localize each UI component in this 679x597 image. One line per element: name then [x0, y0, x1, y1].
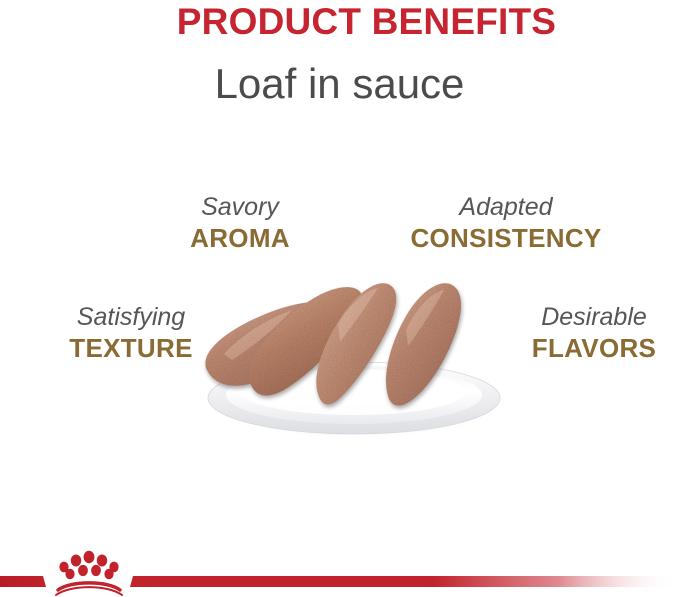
benefit-aroma-label: AROMA [178, 222, 302, 254]
benefit-flavors-adjective: Desirable [523, 302, 665, 332]
crown-dots [59, 551, 118, 580]
benefit-flavors: Desirable FLAVORS [523, 302, 665, 364]
benefit-consistency-adjective: Adapted [394, 192, 618, 222]
brand-footer [0, 540, 679, 597]
benefit-consistency: Adapted CONSISTENCY [394, 192, 618, 254]
product-benefits-panel: PRODUCT BENEFITS Loaf in sauce Savory AR… [0, 0, 679, 597]
page-subtitle: Loaf in sauce [0, 60, 679, 108]
page-title: PRODUCT BENEFITS [0, 2, 679, 42]
loaf-in-sauce-on-plate-photo [188, 272, 518, 440]
benefit-flavors-label: FLAVORS [523, 332, 665, 364]
benefit-texture-adjective: Satisfying [60, 302, 202, 332]
benefit-aroma: Savory AROMA [178, 192, 302, 254]
benefit-aroma-adjective: Savory [178, 192, 302, 222]
benefit-texture-label: TEXTURE [60, 332, 202, 364]
benefit-texture: Satisfying TEXTURE [60, 302, 202, 364]
benefit-consistency-label: CONSISTENCY [394, 222, 618, 254]
